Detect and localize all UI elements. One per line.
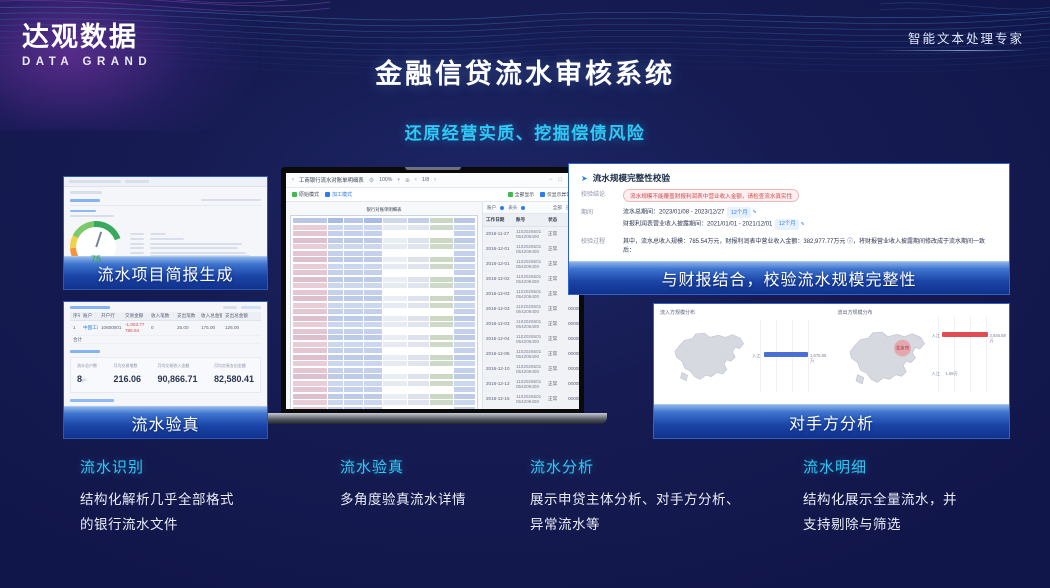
transaction-rows: 2016-11-271102026501 054206400正常2016-12-…: [483, 227, 579, 409]
cell-status: 正常: [545, 381, 565, 387]
cell-date: 2016-12-15: [483, 396, 513, 402]
table-row[interactable]: 2016-12-031102026501 054206400正常00008: [483, 302, 579, 317]
integrity-title: 流水规模完整性校验: [593, 172, 670, 184]
period-line-1: 流水总期间：2023/01/08 - 2023/12/27: [623, 210, 724, 216]
cell-date: 2016-12-03: [483, 291, 513, 297]
conclusion-label: 校验结论: [581, 189, 615, 202]
gauge-needle: [95, 232, 101, 248]
table-row[interactable]: 2016-12-051102026501 054206400正常00008: [483, 347, 579, 362]
feature-3-line1: 结构化展示全量流水，并: [803, 488, 1043, 513]
period-tag-1[interactable]: 12个月: [727, 207, 751, 218]
map-outflow: 流出方规模分布 北京市 入江 3,646.88万 入江 1: [832, 304, 1010, 405]
statement-row: [293, 329, 475, 334]
cell-account: 1102026501 054206400: [513, 349, 545, 360]
maps-container: 流入方规模分布 入江 1,675.85万 流出方规模分布: [654, 304, 1009, 405]
statement-row: [293, 231, 475, 236]
integrity-conclusion-row: 校验结论 流水规模不能覆盖财报利润表中营业收入金额，请检查流水真实性: [581, 189, 997, 202]
cell-status: 正常: [545, 351, 565, 357]
page-title: 金融信贷流水审核系统: [0, 52, 1050, 91]
integrity-screenshot: ➤ 流水规模完整性校验 校验结论 流水规模不能覆盖财报利润表中营业收入金额，请检…: [568, 163, 1010, 295]
cell-date: 2016-12-12: [483, 381, 513, 387]
cell-date: 2016-12-03: [483, 306, 513, 312]
table-row[interactable]: 2016-12-121102026501 054206400正常00008: [483, 377, 579, 392]
inflow-bar-value: 1,675.85万: [810, 353, 826, 364]
tab-processed-mode[interactable]: 加工模式: [325, 191, 352, 198]
cell-balance: 00008: [565, 351, 579, 357]
table-row[interactable]: 2016-12-031102026501 054206400正常: [483, 287, 579, 302]
document-title: 工商银行流水对账单明细表: [299, 176, 364, 184]
laptop-camera-notch: [405, 167, 461, 170]
feature-2-line2: 异常流水等: [530, 513, 792, 538]
table-row[interactable]: 2016-11-271102026501 054206400正常: [483, 227, 579, 242]
cell-balance: 00008: [565, 381, 579, 387]
statement-row: [293, 244, 475, 249]
cell-status: 正常: [545, 396, 565, 402]
cell-balance: 00008: [565, 366, 579, 372]
cell-balance: 00008: [565, 336, 579, 342]
feature-0: 流水识别 结构化解析几乎全部格式 的银行流水文件: [80, 456, 330, 538]
statement-row: [293, 400, 475, 405]
table-row[interactable]: 2016-12-101102026501 054206400正常00008: [483, 362, 579, 377]
transaction-table-pane[interactable]: 账户 表头 全部 已确认 工作日期 账号 状态 余额 2016-11-27110…: [482, 202, 579, 409]
cell-date: 2016-12-01: [483, 261, 513, 267]
filter-header[interactable]: 表头: [508, 205, 517, 211]
cell-date: 2016-12-10: [483, 366, 513, 372]
stat-1: 月均交易笔数 216.06: [113, 363, 141, 387]
filter-account[interactable]: 账户: [487, 205, 496, 211]
statement-row: [293, 335, 475, 340]
counterparty-screenshot: 流入方规模分布 入江 1,675.85万 流出方规模分布: [653, 303, 1010, 439]
statement-rows: [293, 225, 475, 410]
statement-row: [293, 342, 475, 347]
cell-account: 1102026501 054206400: [513, 289, 545, 300]
statement-row: [293, 238, 475, 243]
fit-icon[interactable]: ⊕: [405, 177, 410, 184]
eye-icon: [508, 192, 513, 197]
tab-original-label: 原始模式: [299, 191, 319, 198]
card-verify-caption: 流水验真: [131, 411, 199, 435]
statement-row: [293, 270, 475, 275]
map-outflow-title: 流出方规模分布: [838, 309, 1004, 316]
card-counterparty[interactable]: 流入方规模分布 入江 1,675.85万 流出方规模分布: [653, 303, 1010, 439]
cell-date: 2016-12-05: [483, 351, 513, 357]
statement-row: [293, 407, 475, 410]
statement-row: [293, 361, 475, 366]
card-report[interactable]: 75 2: [63, 176, 268, 290]
cell-account: 1102026501 054206400: [513, 319, 545, 330]
tab-original-mode[interactable]: 原始模式: [292, 191, 319, 198]
feature-0-line2: 的银行流水文件: [80, 513, 330, 538]
filter-all[interactable]: 全部: [553, 205, 562, 211]
outflow-bar2-label: 入江: [932, 371, 940, 377]
feature-3-title: 流水明细: [803, 456, 1043, 477]
outflow-bar: [942, 332, 988, 337]
dot-icon-1: [500, 206, 504, 210]
cell-account: 1102026501 054206400: [513, 364, 545, 375]
inflow-bar-label: 入江: [752, 353, 760, 359]
map-inflow: 流入方规模分布 入江 1,675.85万: [654, 304, 832, 405]
process-text: 其中，流水总收入规模：785.54万元，财报利润表中营业收入金额：382,977…: [623, 236, 997, 254]
statement-row: [293, 394, 475, 399]
feature-1-line1: 多角度验真流水详情: [340, 488, 530, 513]
slide-root: 达观数据 DATA GRAND 智能文本处理专家 金融信贷流水审核系统 还原经营…: [0, 0, 1050, 588]
china-map-outflow: 北京市: [842, 320, 934, 396]
cell-status: 正常: [545, 231, 565, 237]
cell-status: 正常: [545, 291, 565, 297]
laptop-screen: ‹ 工商银行流水对账单明细表 ⚙ 100% ▾ ⊕ ‹ 1/8 › − □ × …: [281, 167, 584, 413]
statement-row: [293, 296, 475, 301]
cell-status: 正常: [545, 306, 565, 312]
china-map-inflow: [668, 322, 752, 392]
transaction-table-header: 工作日期 账号 状态 余额: [483, 214, 579, 227]
statement-row: [293, 283, 475, 288]
cell-status: 正常: [545, 246, 565, 252]
cell-balance: 00008: [565, 396, 579, 402]
conclusion-alert: 流水规模不能覆盖财报利润表中营业收入金额，请检查流水真实性: [623, 189, 799, 202]
zoom-level[interactable]: 100%: [379, 177, 392, 183]
stat-3: 月均交易支出金额 82,580.41: [214, 363, 254, 387]
card-integrity-caption-bar: 与财报结合，校验流水规模完整性: [569, 261, 1009, 294]
outflow-bar-chart: 入江 3,646.88万 入江 1.88万: [932, 316, 1004, 392]
toggle-show-all[interactable]: 全部显示: [508, 191, 534, 198]
report-screenshot: 75 2: [63, 176, 268, 290]
tagline-underline: [874, 50, 1024, 51]
statement-row: [293, 277, 475, 282]
process-label: 校验过程: [581, 236, 615, 254]
dot-icon-2: [521, 206, 525, 210]
cell-account: 1102026501 054206400: [513, 334, 545, 345]
document-body: 银行对账单明细表: [286, 202, 579, 409]
cell-balance: 00008: [565, 321, 579, 327]
stat-0: 流水总户数 8户: [77, 363, 97, 387]
cell-balance: 00008: [565, 306, 579, 312]
integrity-panel: ➤ 流水规模完整性校验 校验结论 流水规模不能覆盖财报利润表中营业收入金额，请检…: [569, 164, 1009, 263]
cell-account: 1102026501 054206400: [513, 229, 545, 240]
edit-icon-2[interactable]: ✎: [799, 221, 805, 227]
statement-row: [293, 309, 475, 314]
card-verify-caption-bar: 流水验真: [64, 406, 267, 438]
feature-2-title: 流水分析: [530, 456, 792, 477]
cell-date: 2016-12-02: [483, 276, 513, 282]
statement-preview-pane[interactable]: 银行对账单明细表: [286, 202, 482, 409]
next-page-icon[interactable]: ›: [434, 177, 436, 183]
laptop-display-content: ‹ 工商银行流水对账单明细表 ⚙ 100% ▾ ⊕ ‹ 1/8 › − □ × …: [286, 173, 579, 409]
feature-3-line2: 支持剔除与筛选: [803, 513, 1043, 538]
page-indicator: 1/8: [422, 177, 429, 183]
table-row[interactable]: 2016-12-021102026501 054206400正常: [483, 272, 579, 287]
check-icon: [292, 192, 297, 197]
toggle-show-all-label: 全部显示: [515, 191, 534, 198]
statement-row: [293, 316, 475, 321]
inflow-bar-chart: 入江 1,675.85万: [752, 320, 826, 392]
tagline: 智能文本处理专家: [908, 28, 1024, 47]
report-breadcrumb: [64, 177, 267, 187]
cell-account: 1102026501 054206400: [513, 274, 545, 285]
statement-row: [293, 257, 475, 262]
expand-arrow-icon[interactable]: ➤: [581, 174, 588, 183]
outflow-bar-value: 3,646.88万: [990, 333, 1006, 344]
period-tag-2[interactable]: 12个月: [775, 219, 799, 230]
feature-0-title: 流水识别: [80, 456, 330, 477]
verify-screenshot: 序号 账户 开户行 交易金额 收入笔数 支出笔数 收入总金额 支出总金额 1 中…: [63, 301, 268, 439]
cell-account: 1102026501 054206400: [513, 394, 545, 405]
card-verify[interactable]: 序号 账户 开户行 交易金额 收入笔数 支出笔数 收入总金额 支出总金额 1 中…: [63, 301, 268, 439]
cell-date: 2016-12-04: [483, 336, 513, 342]
outflow-bar-label: 入江: [932, 333, 940, 339]
statement-row: [293, 348, 475, 353]
statement-row: [293, 251, 475, 256]
feature-0-line1: 结构化解析几乎全部格式: [80, 488, 330, 513]
integrity-title-row: ➤ 流水规模完整性校验: [581, 172, 997, 184]
statement-row: [293, 322, 475, 327]
settings-icon[interactable]: ⚙: [369, 177, 374, 184]
outflow-bar2-value: 1.88万: [946, 371, 958, 377]
cell-status: 正常: [545, 321, 565, 327]
cell-date: 2016-12-03: [483, 321, 513, 327]
table-filter-bar[interactable]: 账户 表头 全部 已确认: [483, 202, 579, 214]
statement-row: [293, 368, 475, 373]
cell-account: 1102026501 054206400: [513, 304, 545, 315]
period-label: 期间: [581, 207, 615, 231]
page-subtitle: 还原经营实质、挖掘偿债风险: [0, 119, 1050, 144]
statement-row: [293, 264, 475, 269]
card-integrity-caption: 与财报结合，校验流水规模完整性: [661, 266, 916, 290]
feature-2: 流水分析 展示申贷主体分析、对手方分析、 异常流水等: [530, 456, 792, 538]
statement-row: [293, 355, 475, 360]
cell-date: 2016-11-27: [483, 231, 513, 237]
cell-account: 1102026501 054206400: [513, 244, 545, 255]
logo-text-cn: 达观数据: [22, 22, 152, 53]
stat-2: 月均交易收入金额 90,866.71: [157, 363, 197, 387]
th-account: 账号: [513, 217, 545, 223]
back-icon[interactable]: ‹: [292, 177, 294, 183]
integrity-period-row: 期间 流水总期间：2023/01/08 - 2023/12/2712个月 ✎ 财…: [581, 207, 997, 231]
statement-row: [293, 381, 475, 386]
alert-icon: [540, 192, 545, 197]
cell-date: 2016-12-01: [483, 246, 513, 252]
table-row[interactable]: 2016-12-151102026501 054206400正常00008: [483, 392, 579, 407]
cell-status: 正常: [545, 366, 565, 372]
card-integrity[interactable]: ➤ 流水规模完整性校验 校验结论 流水规模不能覆盖财报利润表中营业收入金额，请检…: [568, 163, 1010, 295]
table-row[interactable]: 2016-12-011102026501 054206400正常: [483, 257, 579, 272]
statement-row: [293, 387, 475, 392]
document-toolbar[interactable]: ‹ 工商银行流水对账单明细表 ⚙ 100% ▾ ⊕ ‹ 1/8 › − □ ×: [286, 173, 579, 188]
integrity-process-row: 校验过程 其中，流水总收入规模：785.54万元，财报利润表中营业收入金额：38…: [581, 236, 997, 254]
document-mode-tabs[interactable]: 原始模式 加工模式 全部显示 仅显示异常: [286, 188, 579, 202]
statement-row: [293, 374, 475, 379]
check-icon-2: [325, 192, 330, 197]
feature-1-title: 流水验真: [340, 456, 530, 477]
statement-heading: 银行对账单明细表: [290, 207, 478, 213]
edit-icon-1[interactable]: ✎: [751, 210, 757, 216]
feature-1: 流水验真 多角度验真流水详情: [340, 456, 530, 513]
statement-row: [293, 290, 475, 295]
card-counterparty-caption: 对手方分析: [789, 410, 874, 434]
inflow-bar: [764, 352, 808, 357]
table-row[interactable]: 2016-12-031102026501 054206400正常00008: [483, 317, 579, 332]
statement-table: [290, 215, 478, 409]
th-date: 工作日期: [483, 217, 513, 223]
gauge-value: 75: [70, 254, 122, 264]
table-row[interactable]: 2016-12-181102026501 054206400正常00008: [483, 407, 579, 409]
toggle-show-anomaly[interactable]: 仅显示异常: [540, 191, 571, 198]
feature-2-line1: 展示申贷主体分析、对手方分析、: [530, 488, 792, 513]
card-counterparty-caption-bar: 对手方分析: [654, 404, 1009, 438]
chevron-down-icon[interactable]: ▾: [397, 177, 400, 183]
period-line-2: 财报利润表营业收入披露期间：2021/01/01 - 2021/12/01: [623, 221, 772, 227]
th-status: 状态: [545, 217, 565, 223]
prev-page-icon[interactable]: ‹: [415, 177, 417, 183]
cell-status: 正常: [545, 261, 565, 267]
cell-account: 1102026501 054206400: [513, 259, 545, 270]
feature-3: 流水明细 结构化展示全量流水，并 支持剔除与筛选: [803, 456, 1043, 538]
statement-row: [293, 225, 475, 230]
card-report-caption: 流水项目简报生成: [97, 261, 233, 285]
cell-status: 正常: [545, 336, 565, 342]
statement-header-row: [293, 218, 475, 223]
cell-status: 正常: [545, 276, 565, 282]
cell-account: 1102026501 054206400: [513, 379, 545, 390]
table-row[interactable]: 2016-12-041102026501 054206400正常00008: [483, 332, 579, 347]
laptop-base: [258, 413, 607, 424]
table-row[interactable]: 2016-12-011102026501 054206400正常: [483, 242, 579, 257]
map-inflow-title: 流入方规模分布: [660, 309, 826, 316]
verify-stat-row: 流水总户数 8户 月均交易笔数 216.06 月均交易收入金额 90,866.7…: [70, 357, 261, 393]
tab-processed-label: 加工模式: [332, 191, 352, 198]
statement-row: [293, 303, 475, 308]
